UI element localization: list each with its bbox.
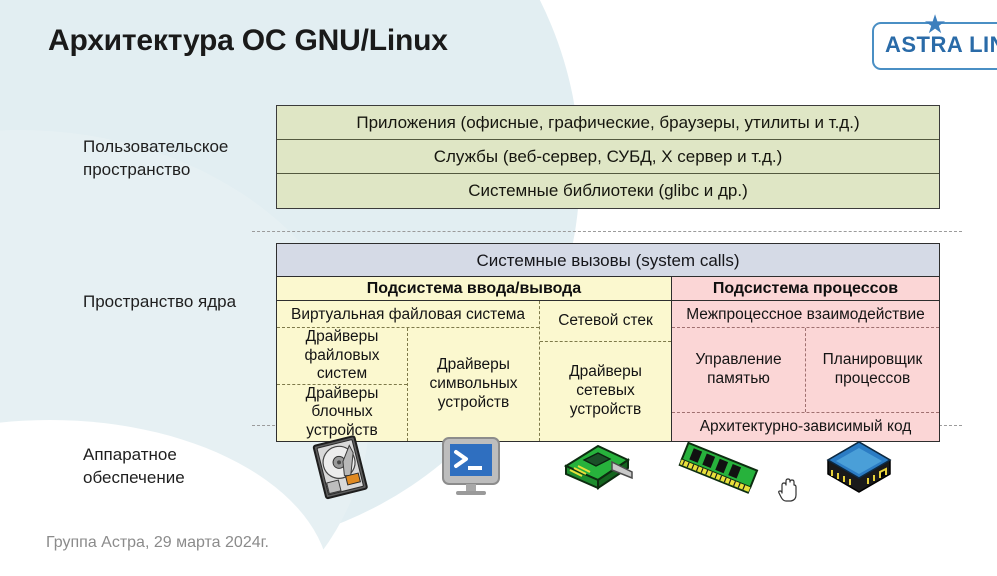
io-cell-network-device-drivers: Драйверы сетевых устройств <box>540 342 671 441</box>
separator-user-kernel <box>252 231 962 232</box>
io-cell-network-stack: Сетевой стек <box>540 301 671 342</box>
hardware-icons-row <box>276 432 940 500</box>
ram-module-icon <box>676 432 762 500</box>
label-user-space: Пользовательское пространство <box>83 136 273 182</box>
label-hardware: Аппаратное обеспечение <box>83 444 273 490</box>
page-title: Архитектура ОС GNU/Linux <box>48 24 448 58</box>
process-middle-row: Управление памятью Планировщик процессов <box>672 328 939 413</box>
monitor-terminal-icon <box>428 432 514 500</box>
user-space-row-applications: Приложения (офисные, графические, браузе… <box>277 106 939 140</box>
io-network-column: Сетевой стек Драйверы сетевых устройств <box>540 301 671 441</box>
io-subsystem-title: Подсистема ввода/вывода <box>277 277 671 301</box>
process-subsystem: Подсистема процессов Межпроцессное взаим… <box>672 277 939 441</box>
io-subsystem: Подсистема ввода/вывода Виртуальная файл… <box>277 277 672 441</box>
process-cell-scheduler: Планировщик процессов <box>806 328 939 412</box>
footer-note: Группа Астра, 29 марта 2024г. <box>46 534 269 552</box>
hand-cursor <box>777 477 799 503</box>
network-card-icon <box>554 432 640 500</box>
astra-linux-logo-text: ASTRA LINUX <box>885 32 997 58</box>
io-char-driver-column: Драйверы символьных устройств <box>408 328 539 441</box>
user-space-row-system-libraries: Системные библиотеки (glibc и др.) <box>277 174 939 208</box>
process-subsystem-title: Подсистема процессов <box>672 277 939 301</box>
io-cell-virtual-file-system: Виртуальная файловая система <box>277 301 539 328</box>
label-kernel-space: Пространство ядра <box>83 291 273 314</box>
user-space-stack: Приложения (офисные, графические, браузе… <box>276 105 940 209</box>
hard-disk-icon <box>298 432 384 500</box>
io-cell-char-device-drivers: Драйверы символьных устройств <box>408 356 539 412</box>
kernel-subsystems-row: Подсистема ввода/вывода Виртуальная файл… <box>277 277 939 441</box>
system-calls-bar: Системные вызовы (system calls) <box>277 244 939 277</box>
user-space-row-services: Службы (веб-сервер, СУБД, X сервер и т.д… <box>277 140 939 174</box>
io-cell-filesystem-drivers: Драйверы файловых систем <box>277 328 407 385</box>
io-left-lower-group: Драйверы файловых систем Драйверы блочны… <box>277 328 539 441</box>
io-left-group: Виртуальная файловая система Драйверы фа… <box>277 301 540 441</box>
io-filesystem-driver-column: Драйверы файловых систем Драйверы блочны… <box>277 328 408 441</box>
astra-linux-logo: ★ ASTRA LINUX <box>872 22 997 70</box>
process-cell-ipc: Межпроцессное взаимодействие <box>672 301 939 328</box>
cpu-chip-icon <box>816 432 902 500</box>
kernel-space-block: Системные вызовы (system calls) Подсисте… <box>276 243 940 442</box>
io-subsystem-body: Виртуальная файловая система Драйверы фа… <box>277 301 671 441</box>
process-cell-memory-management: Управление памятью <box>672 328 806 412</box>
